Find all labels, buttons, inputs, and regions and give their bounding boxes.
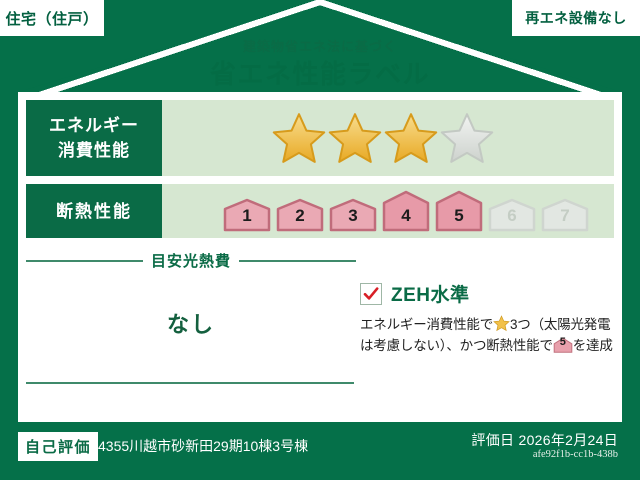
inline-star-icon [493,315,510,332]
heading-rule-right [239,260,356,262]
star-filled-icon [384,111,438,165]
zeh-description: エネルギー消費性能で3つ（太陽光発電は考慮しない）、かつ断熱性能で5を達成 [360,314,614,356]
zeh-checkbox[interactable] [360,283,382,305]
evaluation-date: 評価日 2026年2月24日 [471,430,618,450]
heading-rule-left [26,260,143,262]
insulation-performance-value: 1234567 [162,184,614,238]
evaluation-id: afe92f1b-cc1b-438b [533,449,618,460]
zeh-section: ZEH水準 エネルギー消費性能で3つ（太陽光発電は考慮しない）、かつ断熱性能で5… [360,280,614,356]
zeh-desc-star-count: 3つ（太陽光発電 [510,317,610,332]
self-evaluation-badge: 自己評価 [18,432,98,461]
insulation-grade-badge: 1 [222,198,272,232]
insulation-grade-badge: 3 [328,198,378,232]
inline-grade-badge: 5 [553,337,573,353]
utility-cost-underline [26,382,354,384]
label-body-panel: エネルギー 消費性能 断熱性能 1234567 目安光熱費 なし [18,92,622,422]
star-filled-icon [272,111,326,165]
property-address: 4355川越市砂新田29期10棟3号棟 [98,436,308,456]
inline-grade-value: 5 [553,332,573,353]
page-title: 省エネ性能ラベル [0,57,640,91]
star-rating [162,111,494,165]
insulation-grade-badge: 6 [487,198,537,232]
title-block: 建築物省エネ法に基づく 省エネ性能ラベル [0,38,640,91]
energy-performance-row: エネルギー 消費性能 [26,100,614,176]
insulation-label-text: 断熱性能 [56,199,132,224]
insulation-grade-badge: 7 [540,198,590,232]
insulation-grade-value: 1 [222,206,272,226]
insulation-grade-value: 2 [275,206,325,226]
energy-label-root: 住宅（住戸） 再エネ設備なし 建築物省エネ法に基づく 省エネ性能ラベル エネルギ… [0,0,640,480]
zeh-heading: ZEH水準 [360,280,614,307]
energy-performance-value [162,100,614,176]
insulation-grade-badge: 5 [434,190,484,232]
insulation-grade-value: 7 [540,206,590,226]
energy-performance-label: エネルギー 消費性能 [26,100,162,176]
energy-label-line2: 消費性能 [58,138,130,163]
zeh-title: ZEH水準 [391,280,470,307]
label-subtitle: 建築物省エネ法に基づく [0,38,640,56]
utility-cost-heading: 目安光熱費 [26,250,356,271]
zeh-desc-part2: は考慮しない）、かつ断熱性能で [360,338,553,353]
insulation-grade-badge: 4 [381,190,431,232]
energy-label-line1: エネルギー [49,113,139,138]
zeh-desc-part3: を達成 [573,338,613,353]
insulation-grade-scale: 1234567 [162,190,590,232]
renewable-energy-tag: 再エネ設備なし [512,0,640,36]
insulation-grade-value: 3 [328,206,378,226]
insulation-grade-badge: 2 [275,198,325,232]
insulation-grade-value: 4 [381,206,431,226]
zeh-desc-part1: エネルギー消費性能で [360,317,493,332]
utility-cost-section: 目安光熱費 なし [26,250,356,339]
insulation-grade-value: 6 [487,206,537,226]
utility-cost-heading-text: 目安光熱費 [151,250,231,271]
building-type-tag: 住宅（住戸） [0,0,104,36]
insulation-grade-value: 5 [434,206,484,226]
star-filled-icon [328,111,382,165]
insulation-performance-label: 断熱性能 [26,184,162,238]
insulation-performance-row: 断熱性能 1234567 [26,184,614,238]
star-empty-icon [440,111,494,165]
utility-cost-value: なし [26,307,356,339]
label-footer: 自己評価 4355川越市砂新田29期10棟3号棟 評価日 2026年2月24日 … [0,422,640,480]
check-icon [363,286,379,302]
